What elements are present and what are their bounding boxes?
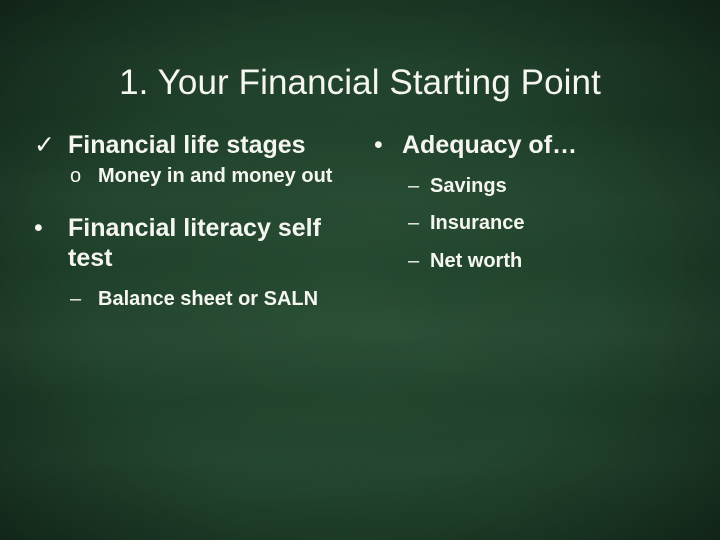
spacer (368, 201, 698, 211)
bullet-financial-literacy-self-test: • Financial literacy self test (34, 213, 364, 273)
bullet-adequacy-of: • Adequacy of… (368, 130, 698, 160)
spacer (34, 191, 364, 213)
sub-bullet-net-worth: – Net worth (368, 249, 698, 273)
check-mark-icon: ✓ (34, 130, 64, 160)
en-dash-icon: – (408, 249, 434, 273)
sub-bullet-money-in-and-money-out: o Money in and money out (34, 164, 364, 188)
slide-canvas: 1. Your Financial Starting Point ✓ Finan… (0, 0, 720, 540)
bullet-financial-life-stages: ✓ Financial life stages (34, 130, 364, 160)
en-dash-icon: – (408, 174, 434, 198)
sub-bullet-balance-sheet-or-saln: – Balance sheet or SALN (34, 287, 364, 311)
hollow-circle-icon: o (70, 164, 96, 188)
en-dash-icon: – (408, 211, 434, 235)
sub-bullet-insurance: – Insurance (368, 211, 698, 235)
en-dash-icon: – (70, 287, 96, 311)
left-content-column: ✓ Financial life stages o Money in and m… (34, 130, 364, 315)
spacer (368, 239, 698, 249)
bullet-label: Financial literacy self test (34, 213, 364, 273)
sub-bullet-savings: – Savings (368, 174, 698, 198)
bullet-label: Adequacy of… (368, 130, 698, 160)
round-bullet-icon: • (34, 213, 64, 243)
right-content-column: • Adequacy of… – Savings – Insurance – N… (368, 130, 698, 276)
slide-title: 1. Your Financial Starting Point (0, 63, 720, 103)
spacer (34, 277, 364, 287)
bullet-label: Financial life stages (34, 130, 364, 160)
spacer (368, 164, 698, 174)
round-bullet-icon: • (374, 130, 404, 160)
